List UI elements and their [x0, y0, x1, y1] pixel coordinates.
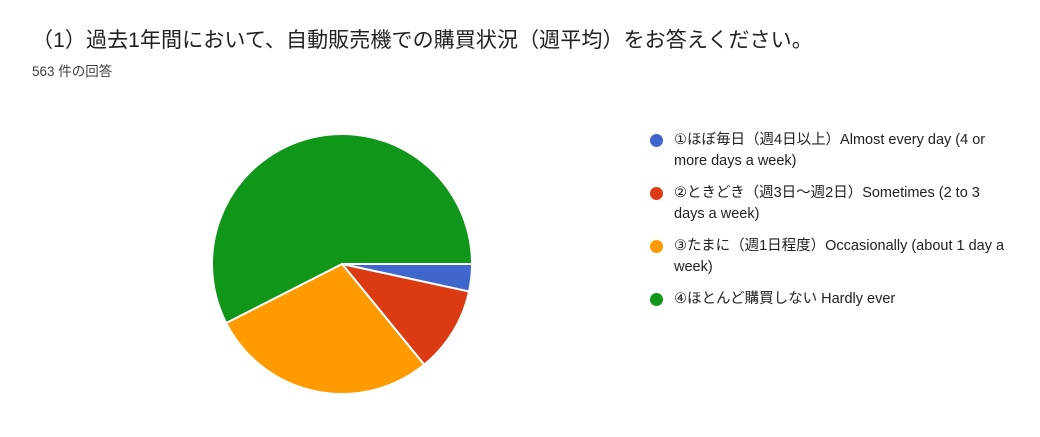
chart-body: 57.5%28.4% ①ほぼ毎日（週4日以上）Almost every day …	[0, 104, 1040, 437]
legend-item-label: ①ほぼ毎日（週4日以上）Almost every day (4 or more …	[674, 130, 1008, 172]
pie-data-label-group: 57.5%28.4%	[474, 163, 510, 365]
legend-item-label: ④ほとんど購買しない Hardly ever	[674, 289, 1008, 310]
pie-slice-group	[212, 134, 472, 394]
legend-item-3[interactable]: ③たまに（週1日程度）Occasionally (about 1 day a w…	[648, 236, 1008, 278]
pie-chart: 57.5%28.4%	[180, 104, 510, 424]
response-count-label: 563 件の回答	[32, 62, 992, 82]
pie-slice-percent-label: 28.4%	[479, 348, 510, 365]
legend-item-label: ③たまに（週1日程度）Occasionally (about 1 day a w…	[674, 236, 1008, 278]
legend-color-dot-icon	[650, 293, 663, 306]
chart-legend: ①ほぼ毎日（週4日以上）Almost every day (4 or more …	[648, 130, 1008, 310]
question-header: （1）過去1年間において、自動販売機での購買状況（週平均）をお答えください。 5…	[32, 26, 992, 82]
legend-item-label: ②ときどき（週3日〜週2日）Sometimes (2 to 3 days a w…	[674, 183, 1008, 225]
legend-item-1[interactable]: ①ほぼ毎日（週4日以上）Almost every day (4 or more …	[648, 130, 1008, 172]
pie-chart-svg: 57.5%28.4%	[180, 104, 510, 424]
legend-color-dot-icon	[650, 187, 663, 200]
page-title: （1）過去1年間において、自動販売機での購買状況（週平均）をお答えください。	[32, 26, 992, 56]
legend-item-2[interactable]: ②ときどき（週3日〜週2日）Sometimes (2 to 3 days a w…	[648, 183, 1008, 225]
legend-color-dot-icon	[650, 240, 663, 253]
survey-result-card: （1）過去1年間において、自動販売機での購買状況（週平均）をお答えください。 5…	[0, 0, 1040, 437]
legend-item-4[interactable]: ④ほとんど購買しない Hardly ever	[648, 289, 1008, 310]
legend-color-dot-icon	[650, 134, 663, 147]
pie-slice-percent-label: 57.5%	[474, 163, 510, 180]
